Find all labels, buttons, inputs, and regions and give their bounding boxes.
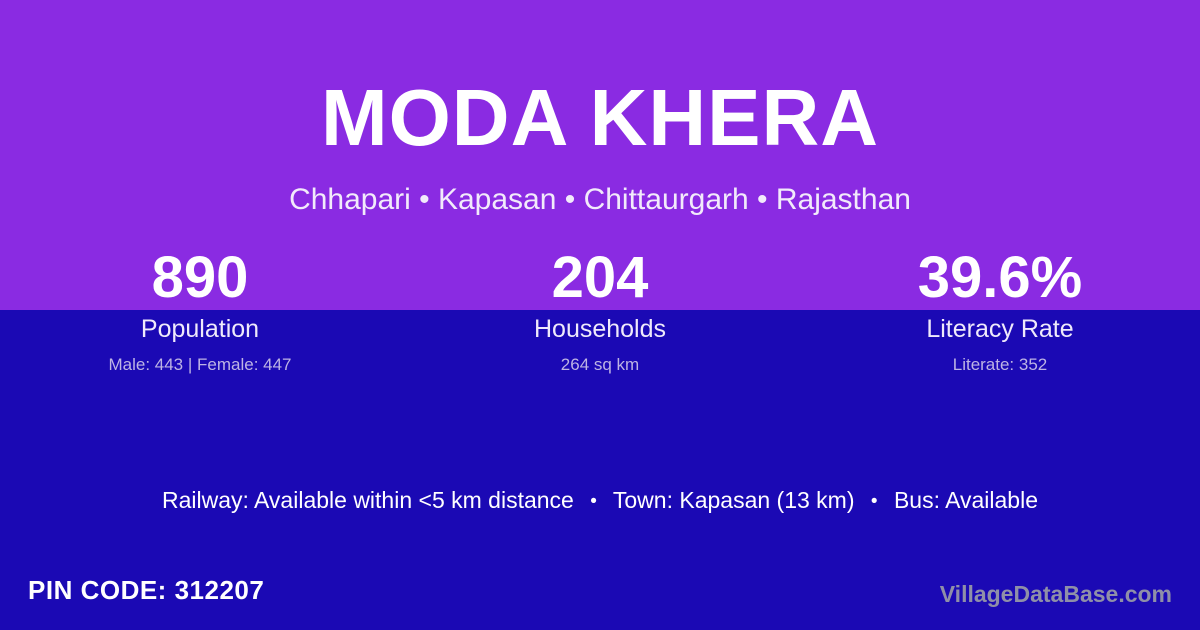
footer: PIN CODE: 312207 VillageDataBase.com: [0, 560, 1200, 630]
stat-households: 204 Households 264 sq km: [400, 246, 800, 376]
stats-row: 890 Population Male: 443 | Female: 447 2…: [0, 246, 1200, 376]
stat-label: Households: [400, 314, 800, 344]
amenity-railway: Railway: Available within <5 km distance: [162, 487, 574, 513]
stat-label: Literacy Rate: [800, 314, 1200, 344]
stat-label: Population: [0, 314, 400, 344]
page-title: MODA KHERA: [0, 78, 1200, 158]
amenities-line: Railway: Available within <5 km distance…: [0, 485, 1200, 517]
village-info-card: MODA KHERA Chhapari • Kapasan • Chittaur…: [0, 0, 1200, 630]
stat-value: 204: [400, 246, 800, 310]
amenity-separator: •: [580, 487, 607, 517]
stat-literacy-rate: 39.6% Literacy Rate Literate: 352: [800, 246, 1200, 376]
site-brand: VillageDataBase.com: [940, 579, 1172, 609]
stat-sublabel: Male: 443 | Female: 447: [0, 354, 400, 376]
pin-code: PIN CODE: 312207: [28, 574, 264, 606]
amenity-separator: •: [861, 487, 888, 517]
amenity-bus: Bus: Available: [894, 487, 1038, 513]
stat-population: 890 Population Male: 443 | Female: 447: [0, 246, 400, 376]
stat-value: 39.6%: [800, 246, 1200, 310]
stat-sublabel: 264 sq km: [400, 354, 800, 376]
breadcrumb: Chhapari • Kapasan • Chittaurgarh • Raja…: [0, 182, 1200, 218]
stat-sublabel: Literate: 352: [800, 354, 1200, 376]
stat-value: 890: [0, 246, 400, 310]
amenity-town: Town: Kapasan (13 km): [613, 487, 855, 513]
